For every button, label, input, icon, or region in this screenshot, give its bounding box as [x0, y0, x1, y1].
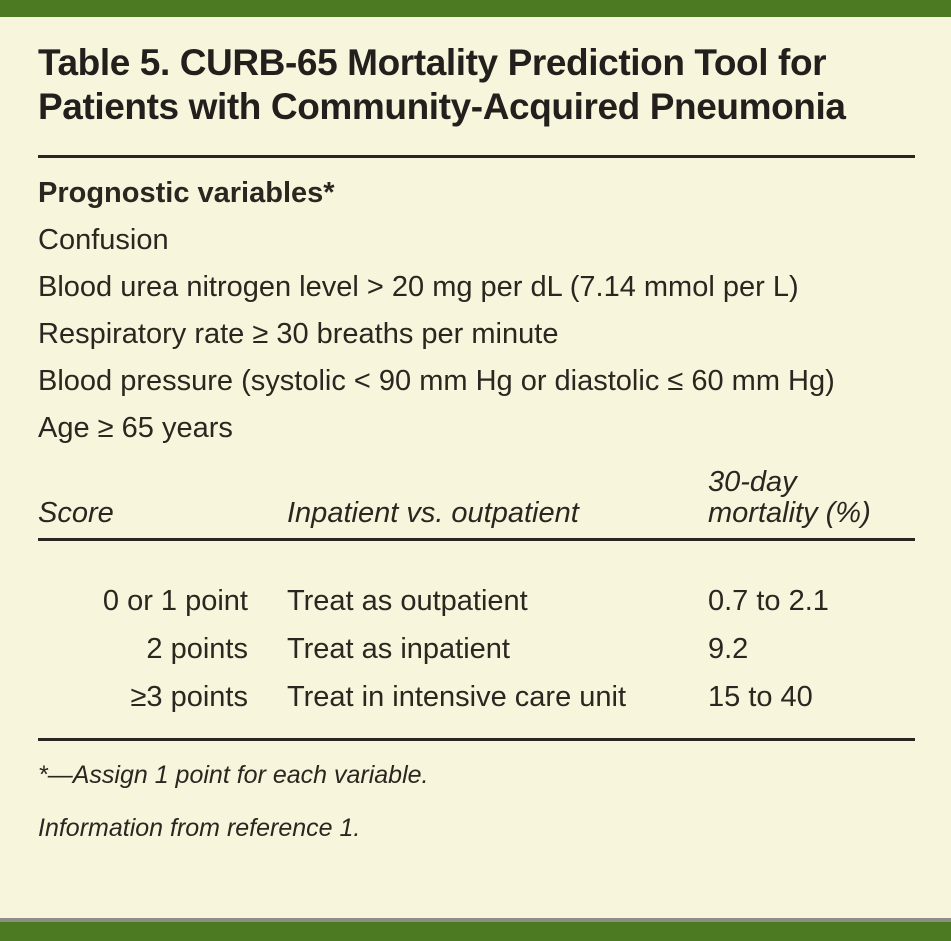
variable-item-respiratory-rate: Respiratory rate ≥ 30 breaths per minute [38, 320, 915, 349]
cell-score: 2 points [38, 635, 287, 683]
variable-item-blood-urea-nitrogen: Blood urea nitrogen level > 20 mg per dL… [38, 273, 915, 302]
footnote-asterisk: *—Assign 1 point for each variable. [38, 763, 915, 788]
cell-mortality: 0.7 to 2.1 [708, 565, 915, 635]
cell-mortality: 9.2 [708, 635, 915, 683]
table-header-row: Score Inpatient vs. outpatient 30-day mo… [38, 467, 915, 530]
score-table-body-wrap: 0 or 1 point Treat as outpatient 0.7 to … [38, 565, 915, 712]
footnotes-section: *—Assign 1 point for each variable. Info… [38, 763, 915, 841]
table-row: ≥3 points Treat in intensive care unit 1… [38, 683, 915, 712]
column-header-mortality: 30-day mortality (%) [708, 467, 915, 530]
table-row: 0 or 1 point Treat as outpatient 0.7 to … [38, 565, 915, 635]
variable-item-age: Age ≥ 65 years [38, 414, 915, 443]
variable-item-blood-pressure: Blood pressure (systolic < 90 mm Hg or d… [38, 367, 915, 396]
table-row: 2 points Treat as inpatient 9.2 [38, 635, 915, 683]
prognostic-variables-section: Prognostic variables* Confusion Blood ur… [38, 179, 915, 443]
score-table-body: 0 or 1 point Treat as outpatient 0.7 to … [38, 565, 915, 712]
cell-score: ≥3 points [38, 683, 287, 712]
header-divider [38, 538, 915, 541]
cell-treatment: Treat as outpatient [287, 565, 708, 635]
cell-treatment: Treat as inpatient [287, 635, 708, 683]
prognostic-variables-heading: Prognostic variables* [38, 179, 915, 208]
footer-divider [38, 738, 915, 741]
score-table-head: Score Inpatient vs. outpatient 30-day mo… [38, 467, 915, 530]
table-content: Table 5. CURB-65 Mortality Prediction To… [38, 17, 915, 841]
footnote-reference: Information from reference 1. [38, 816, 915, 841]
table-card: Table 5. CURB-65 Mortality Prediction To… [0, 0, 951, 941]
column-header-treatment: Inpatient vs. outpatient [287, 467, 708, 530]
page-title: Table 5. CURB-65 Mortality Prediction To… [38, 17, 915, 130]
score-table: Score Inpatient vs. outpatient 30-day mo… [38, 467, 915, 530]
column-header-score: Score [38, 467, 287, 530]
column-header-mortality-line1: 30-day [708, 466, 797, 498]
cell-treatment: Treat in intensive care unit [287, 683, 708, 712]
bottom-accent-shade [0, 918, 951, 922]
title-divider [38, 155, 915, 158]
cell-score: 0 or 1 point [38, 565, 287, 635]
column-header-mortality-line2: mortality (%) [708, 497, 871, 529]
variable-item-confusion: Confusion [38, 226, 915, 255]
cell-mortality: 15 to 40 [708, 683, 915, 712]
